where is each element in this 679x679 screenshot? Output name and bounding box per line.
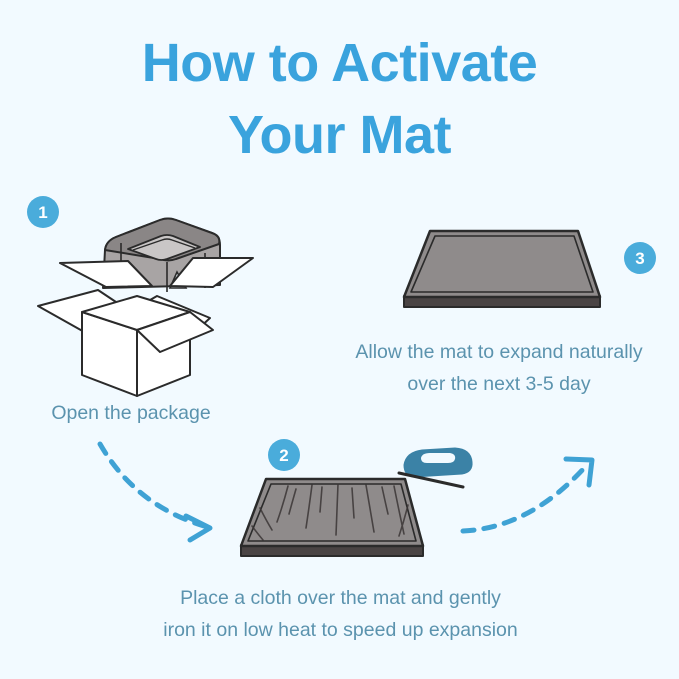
step-badge-2: 2: [268, 439, 300, 471]
infographic-canvas: How to Activate Your Mat: [0, 0, 679, 679]
arrow-step1-to-step2: [100, 444, 210, 540]
step-2-caption: Place a cloth over the mat and gently ir…: [88, 583, 593, 646]
step-3-caption: Allow the mat to expand naturally over t…: [319, 337, 679, 400]
step-2-caption-line-2: iron it on low heat to speed up expansio…: [88, 615, 593, 647]
step-badge-1: 1: [27, 196, 59, 228]
step-3-caption-line-1: Allow the mat to expand naturally: [319, 337, 679, 369]
flat-mat-icon: [404, 231, 600, 307]
page-title: How to Activate Your Mat: [0, 28, 679, 172]
step-2-caption-line-1: Place a cloth over the mat and gently: [88, 583, 593, 615]
step-3-caption-line-2: over the next 3-5 day: [319, 369, 679, 401]
title-line-2: Your Mat: [0, 100, 679, 172]
title-line-1: How to Activate: [0, 28, 679, 100]
step-badge-3: 3: [624, 242, 656, 274]
step-1-caption-line-1: Open the package: [0, 398, 262, 430]
arrow-step2-to-step3: [463, 459, 592, 531]
step-1-caption: Open the package: [0, 398, 262, 430]
open-box-with-mat-icon: [38, 219, 253, 397]
